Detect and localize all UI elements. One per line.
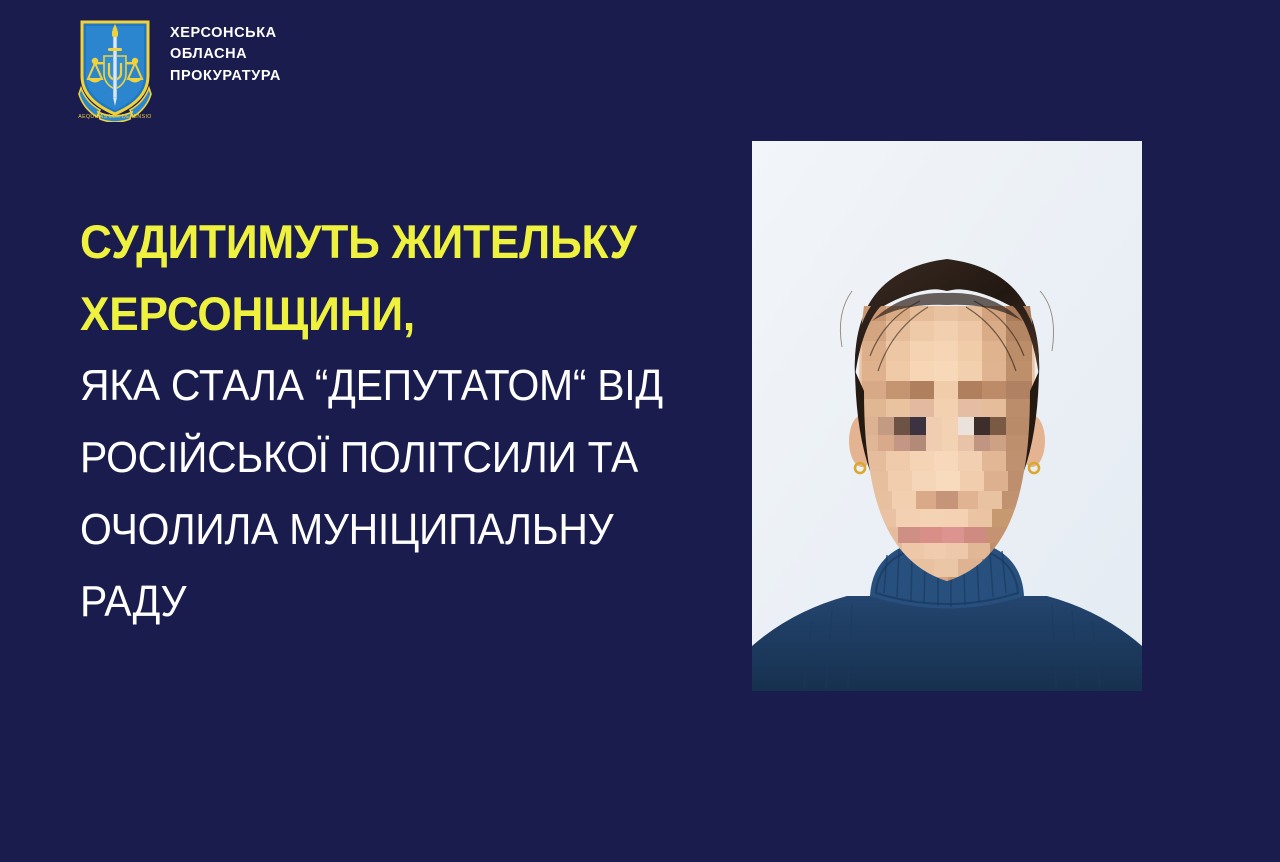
headline-accent-line-2: ХЕРСОНЩИНИ, <box>80 278 663 350</box>
brand-line-3: ПРОКУРАТУРА <box>170 67 281 86</box>
brand-header: AEQUITAS LEX DEFENSIO ХЕРСОНСЬКА ОБЛАСНА… <box>78 18 281 122</box>
headline-body-line-4: РАДУ <box>80 566 657 638</box>
emblem-motto-text: AEQUITAS LEX DEFENSIO <box>78 114 151 120</box>
suspect-photo-frame <box>752 141 1142 691</box>
headline-block: СУДИТИМУТЬ ЖИТЕЛЬКУ ХЕРСОНЩИНИ, ЯКА СТАЛ… <box>80 206 700 638</box>
headline-accent-line-1: СУДИТИМУТЬ ЖИТЕЛЬКУ <box>80 206 663 278</box>
brand-line-1: ХЕРСОНСЬКА <box>170 24 281 43</box>
headline-body-line-1: ЯКА СТАЛА “ДЕПУТАТОМ“ ВІД <box>80 350 657 422</box>
prosecutors-office-emblem-icon: AEQUITAS LEX DEFENSIO <box>78 18 152 122</box>
announcement-card: AEQUITAS LEX DEFENSIO ХЕРСОНСЬКА ОБЛАСНА… <box>0 0 1280 862</box>
headline-body-line-3: ОЧОЛИЛА МУНІЦИПАЛЬНУ <box>80 494 657 566</box>
suspect-portrait-image <box>752 141 1142 691</box>
brand-title: ХЕРСОНСЬКА ОБЛАСНА ПРОКУРАТУРА <box>170 18 281 86</box>
brand-line-2: ОБЛАСНА <box>170 45 281 64</box>
headline-body-line-2: РОСІЙСЬКОЇ ПОЛІТСИЛИ ТА <box>80 422 657 494</box>
